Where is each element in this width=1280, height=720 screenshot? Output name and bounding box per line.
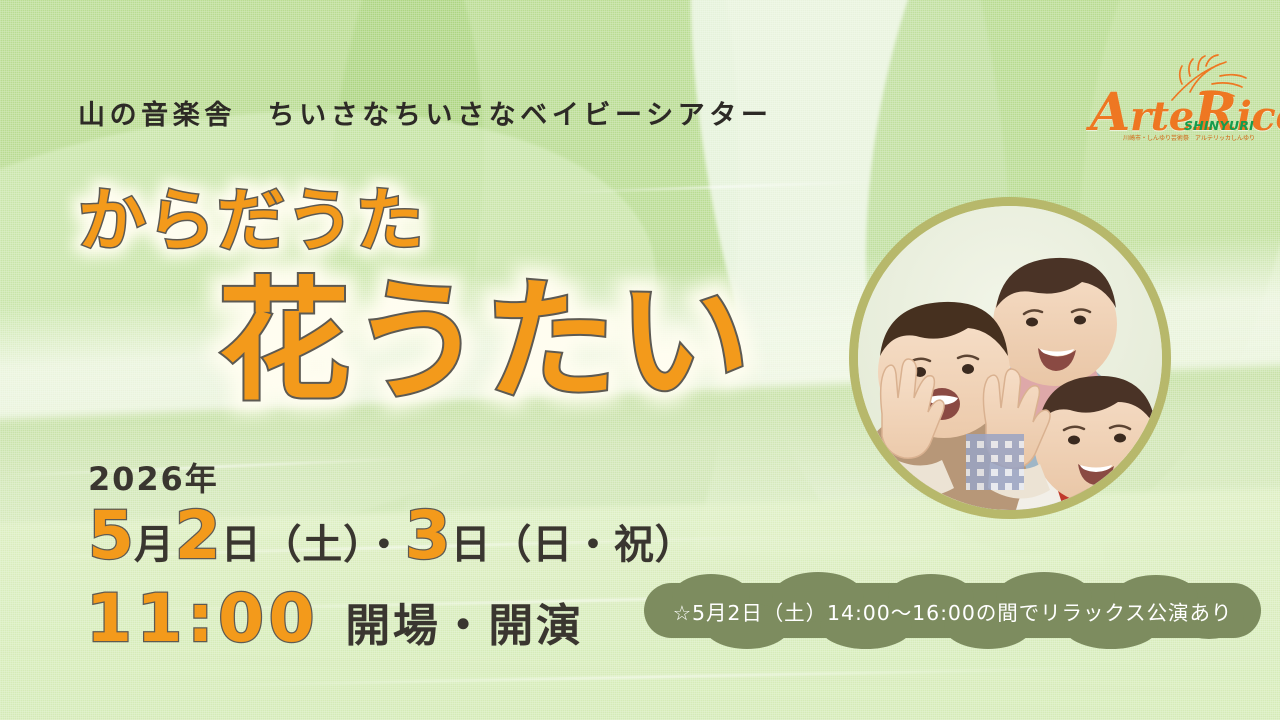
logo-subtitle: SHINYURI <box>1184 118 1254 133</box>
title-sub-container: からだうた からだうた <box>78 183 425 261</box>
title-main-container: 花うたい 花うたい <box>218 272 751 412</box>
babies-photo <box>858 206 1162 510</box>
logo-tagline: 川崎市・しんゆり芸術祭 アルテリッカしんゆり <box>1123 133 1255 142</box>
date-line: 5 月 2 日（土）・ 3 日（日・祝） <box>88 500 695 581</box>
date-day2-number: 3 <box>405 500 451 572</box>
time-label: 開場・開演 <box>345 589 584 663</box>
date-month-label: 月 <box>134 509 175 581</box>
relax-performance-banner: ☆5月2日（土）14:00〜16:00の間でリラックス公演あり <box>644 583 1261 638</box>
title-main: 花うたい <box>218 272 751 412</box>
header-subtitle: 山の音楽舎 ちいさなちいさなベイビーシアター <box>78 93 772 132</box>
poster-canvas: 山の音楽舎 ちいさなちいさなベイビーシアター ArteRicca SHINYUR… <box>0 0 1280 720</box>
date-day1-label: 日（土）・ <box>221 509 405 581</box>
date-block: 2026年 5 月 2 日（土）・ 3 日（日・祝） <box>88 460 695 581</box>
time-value: 11:00 <box>86 582 319 656</box>
arte-ricca-logo: ArteRicca SHINYURI 川崎市・しんゆり芸術祭 アルテリッカしんゆ… <box>1090 56 1258 148</box>
babies-photo-circle <box>849 197 1171 519</box>
date-year: 2026年 <box>88 460 695 498</box>
date-month-number: 5 <box>88 500 134 572</box>
date-day2-label: 日（日・祝） <box>451 509 696 581</box>
relax-note-text: ☆5月2日（土）14:00〜16:00の間でリラックス公演あり <box>644 583 1261 638</box>
three-smiling-babies-illustration <box>858 206 1162 510</box>
time-line: 11:00 開場・開演 <box>86 582 584 663</box>
title-sub: からだうた <box>78 183 425 261</box>
date-day1-number: 2 <box>175 500 221 572</box>
